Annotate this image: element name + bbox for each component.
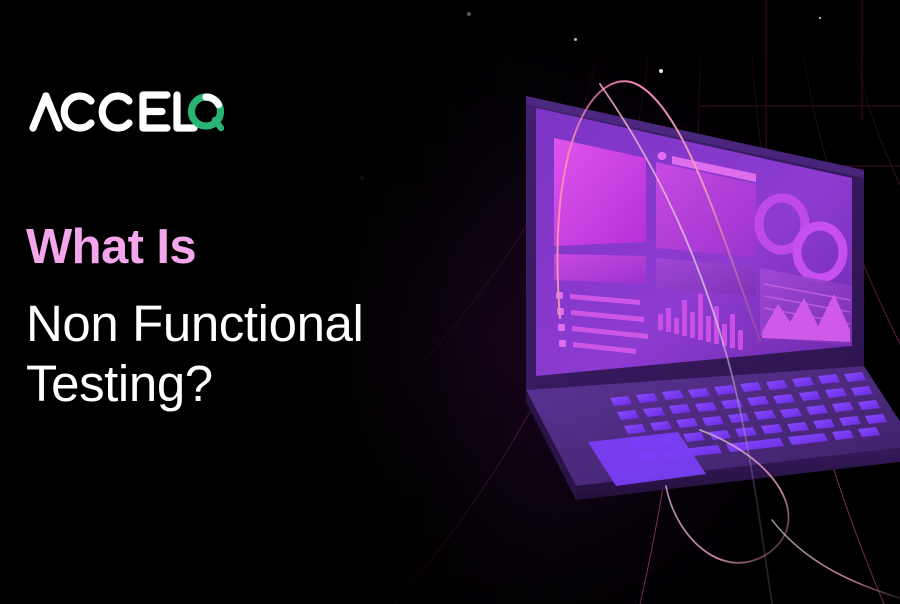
ribbon-loop-bottom	[666, 430, 789, 563]
page-title: What Is Non Functional Testing?	[26, 222, 456, 414]
ribbon-diagonal	[600, 84, 772, 604]
headline-line-3: Testing?	[26, 354, 456, 414]
headline-line-2: Non Functional	[26, 294, 456, 354]
logo-letter-q-green	[192, 97, 222, 128]
headline-accent-line: What Is	[26, 222, 456, 274]
ribbon-arc-top	[557, 81, 760, 340]
logo-wordmark-white	[33, 95, 194, 128]
hero-banner: What Is Non Functional Testing?	[0, 0, 900, 604]
ribbon-tail	[772, 520, 900, 598]
accelq-logo[interactable]	[28, 82, 224, 138]
